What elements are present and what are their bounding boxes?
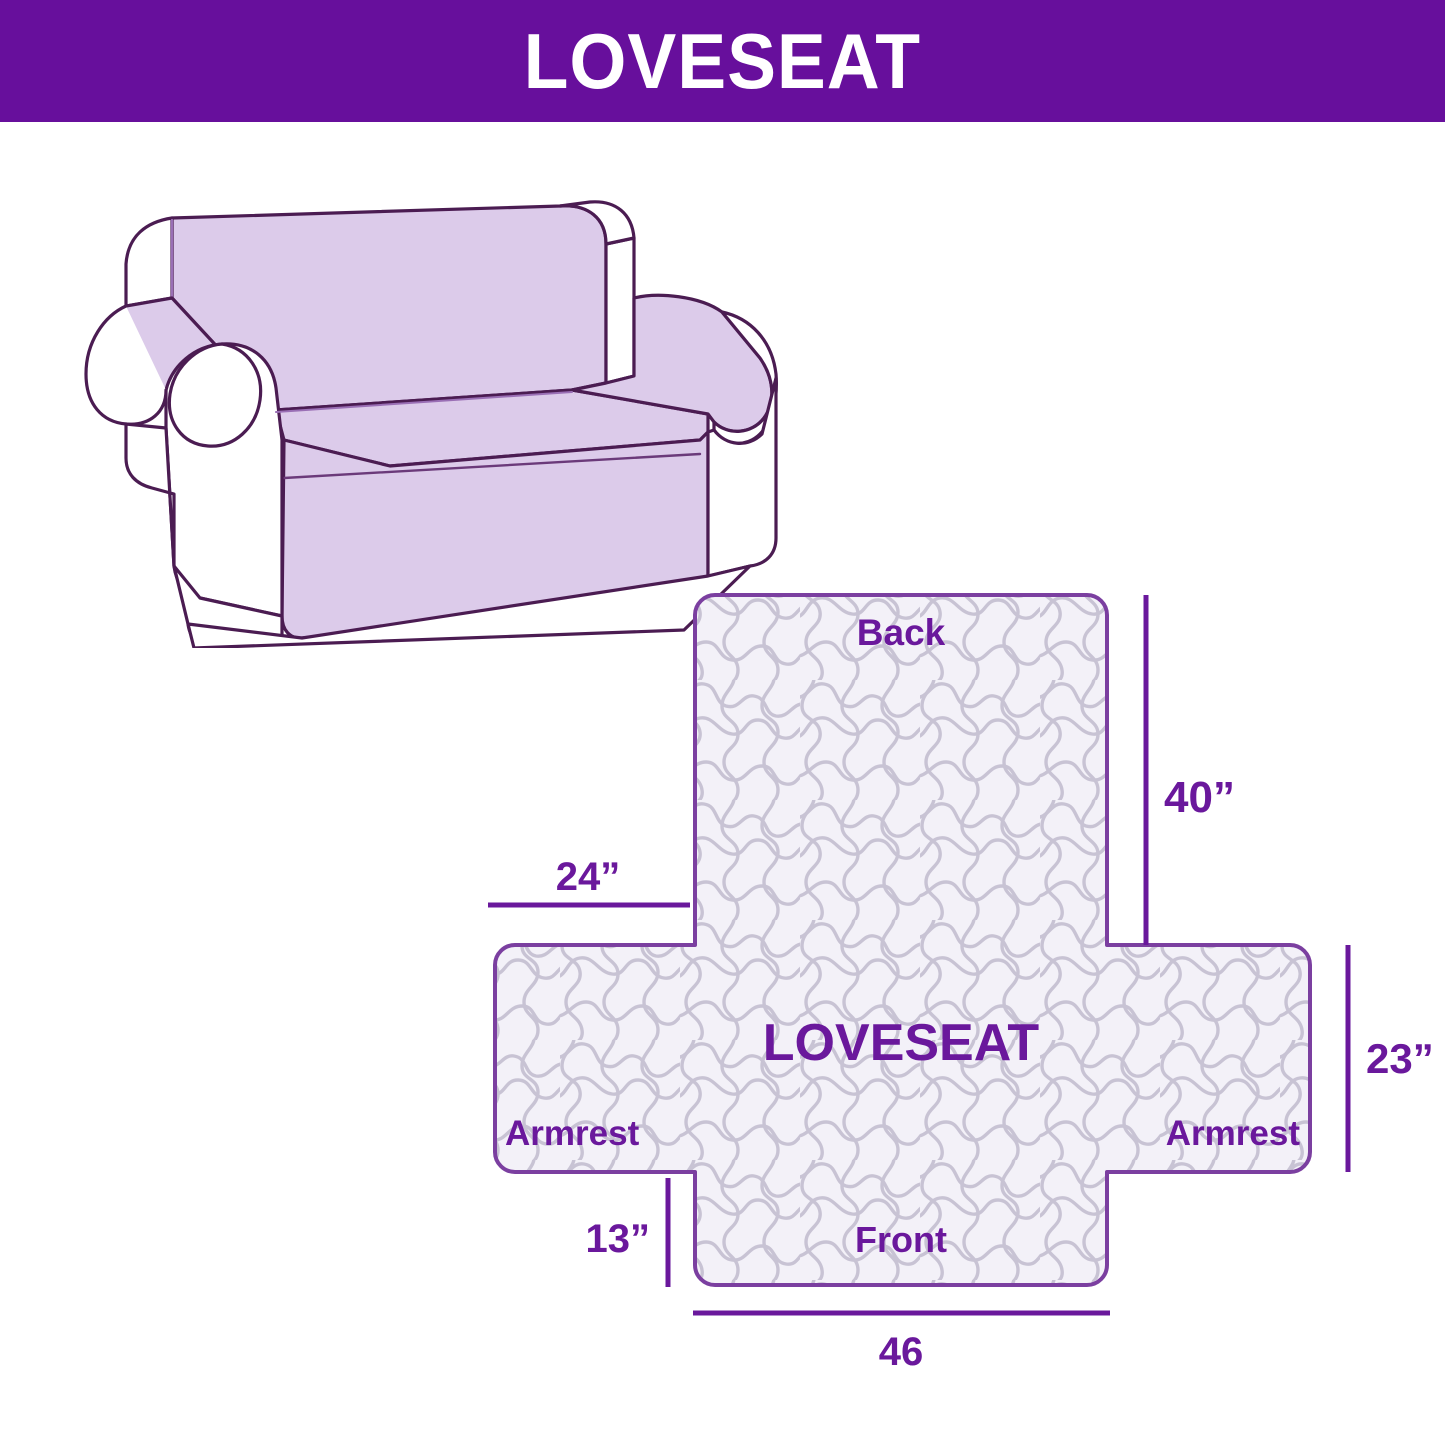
panel-label-armrest-right: Armrest bbox=[1166, 1114, 1301, 1153]
panel-label-armrest-left: Armrest bbox=[505, 1114, 640, 1153]
page-title: LOVESEAT bbox=[524, 22, 921, 100]
dimension-label-46: 46 bbox=[879, 1330, 924, 1374]
dimension-label-23: 23” bbox=[1366, 1035, 1434, 1082]
dimension-label-24: 24” bbox=[556, 855, 621, 899]
dimension-label-40: 40” bbox=[1164, 773, 1235, 822]
header-band: LOVESEAT bbox=[0, 0, 1445, 122]
cover-pattern-diagram: Back LOVESEAT Armrest Armrest Front 40” … bbox=[440, 560, 1445, 1390]
panel-label-back: Back bbox=[857, 612, 946, 653]
panel-label-center: LOVESEAT bbox=[763, 1014, 1040, 1072]
cover-cross-shape bbox=[495, 595, 1310, 1285]
panel-label-front: Front bbox=[855, 1219, 947, 1260]
dimension-label-13: 13” bbox=[586, 1217, 651, 1261]
loveseat-dimension-infographic: LOVESEAT bbox=[0, 0, 1445, 1445]
